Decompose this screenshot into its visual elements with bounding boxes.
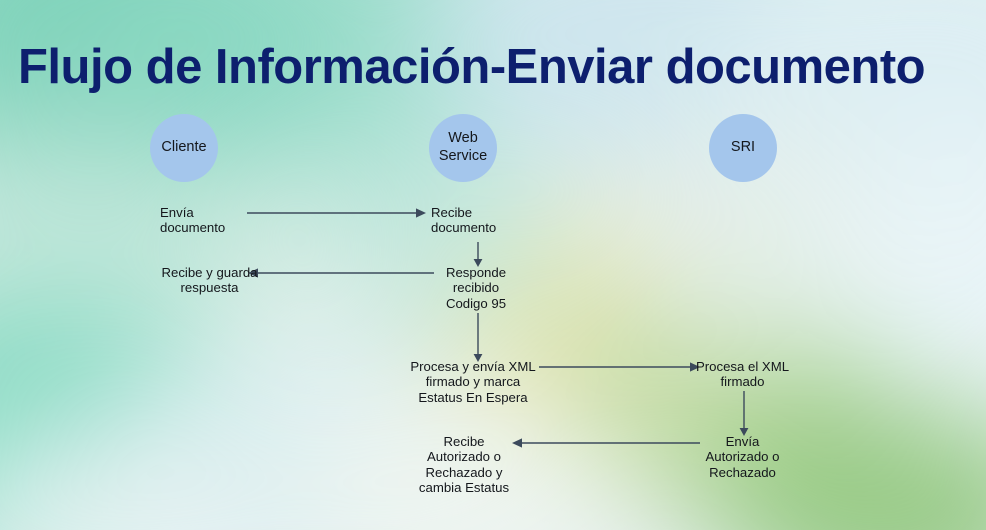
lane-label-cliente-line1: Cliente (161, 139, 206, 157)
lane-label-sri-line1: SRI (731, 139, 755, 157)
connector-ws-to-sri-1 (538, 359, 702, 375)
step-recibe-documento: Recibe documento (431, 205, 581, 236)
connector-sri-down-1 (736, 391, 752, 437)
lane-circle-sri[interactable]: SRI (709, 114, 777, 182)
lane-circle-cliente[interactable]: Cliente (150, 114, 218, 182)
step-envia-autorizado: Envía Autorizado o Rechazado (684, 434, 801, 480)
step-recibe-guarda-respuesta: Recibe y guarda respuesta (118, 265, 301, 296)
lane-label-web-service-line2: Service (439, 148, 487, 166)
step-procesa-envia-xml: Procesa y envía XML firmado y marca Esta… (408, 359, 538, 405)
slide-canvas: Flujo de Información-Enviar documento Cl… (0, 0, 986, 530)
step-responde-recibido: Responde recibido Codigo 95 (403, 265, 549, 311)
page-title: Flujo de Información-Enviar documento (18, 42, 968, 94)
lane-circle-web-service[interactable]: Web Service (429, 114, 497, 182)
step-recibe-autorizado: Recibe Autorizado o Rechazado y cambia E… (399, 434, 529, 495)
lane-label-web-service-line1: Web (439, 130, 487, 148)
connector-ws-down-2 (470, 313, 486, 363)
connector-sri-to-ws-1 (510, 435, 702, 451)
step-procesa-xml-firmado: Procesa el XML firmado (684, 359, 801, 390)
step-envia-documento: Envía documento (160, 205, 290, 236)
